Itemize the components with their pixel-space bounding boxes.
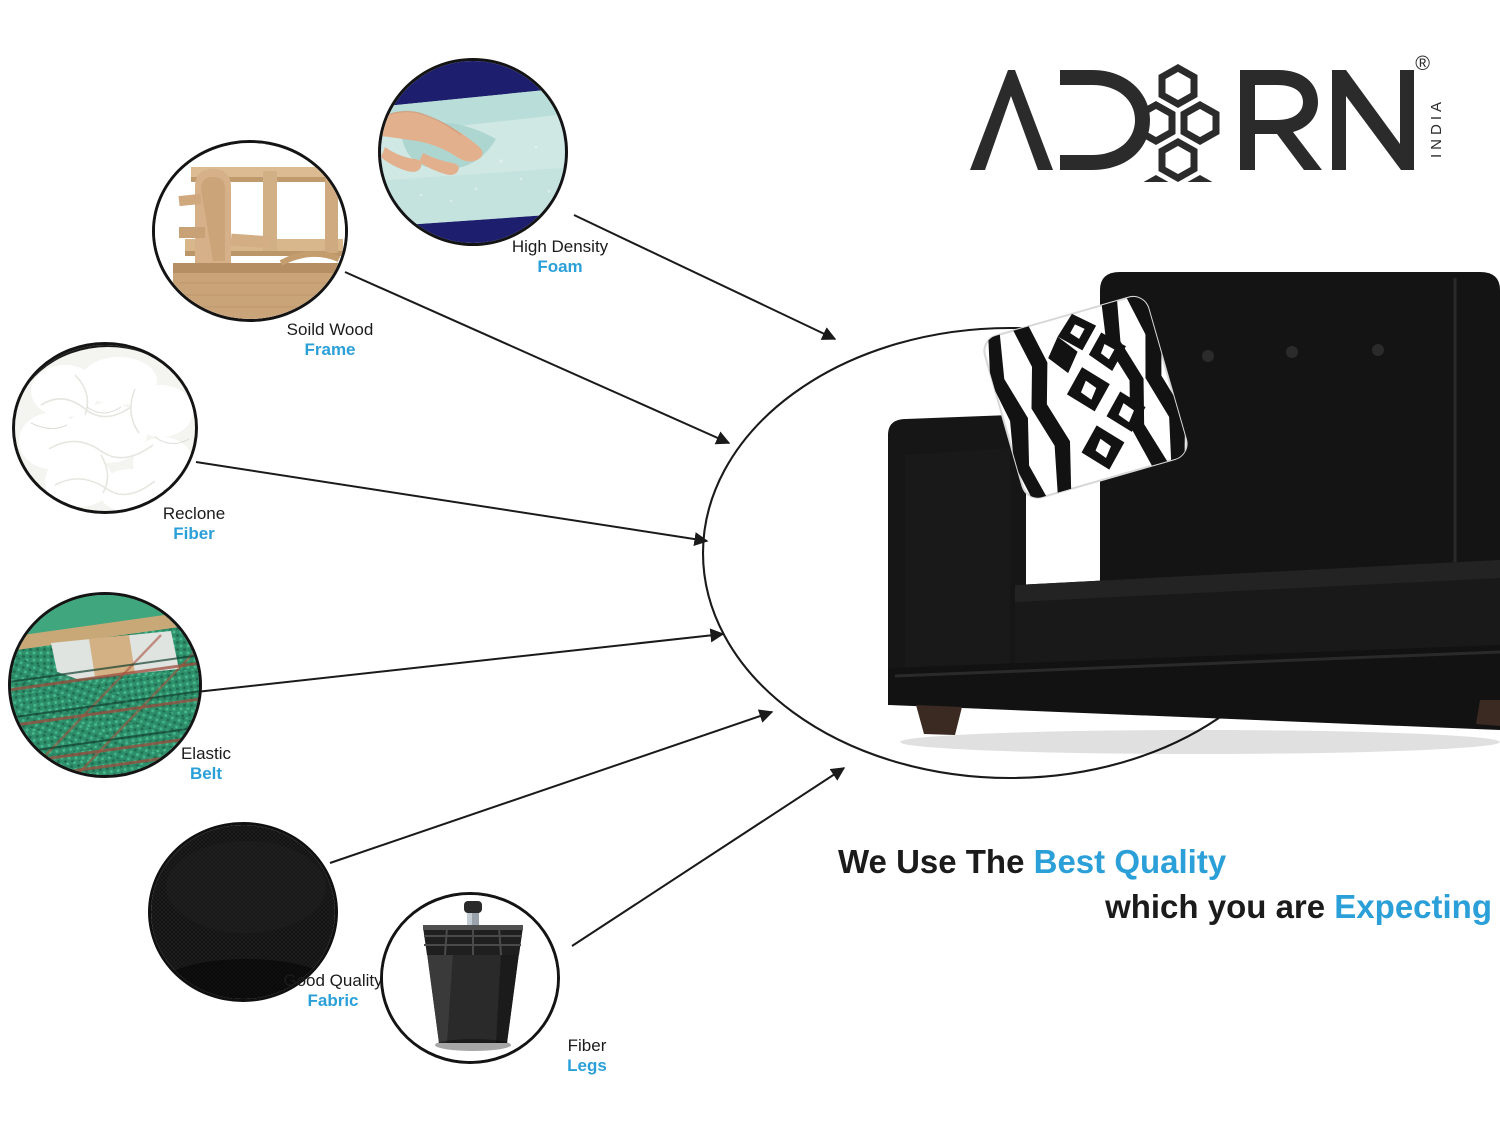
caption-accent: Frame bbox=[250, 340, 410, 360]
infographic-canvas: INDIA ® bbox=[0, 0, 1500, 1125]
reclone-fiber-caption: Reclone Fiber bbox=[130, 504, 258, 543]
tagline-line2-plain: which you are bbox=[1105, 888, 1334, 925]
foam-press-illustration bbox=[381, 61, 568, 246]
sofa-illustration bbox=[888, 272, 1500, 754]
honeycomb-hexagons bbox=[1140, 68, 1216, 182]
registered-trademark-icon: ® bbox=[1415, 54, 1430, 74]
caption-accent: Belt bbox=[144, 764, 268, 784]
high-density-foam-image bbox=[378, 58, 568, 246]
wooden-frame-illustration bbox=[155, 143, 348, 322]
tagline-line1-plain: We Use The bbox=[838, 843, 1034, 880]
arrow-fiber bbox=[196, 462, 707, 541]
caption-primary: Fiber bbox=[532, 1036, 642, 1056]
tagline-line2-accent: Expecting bbox=[1334, 888, 1492, 925]
solid-wood-frame-image bbox=[152, 140, 348, 322]
caption-primary: High Density bbox=[480, 237, 640, 257]
caption-accent: Fiber bbox=[130, 524, 258, 544]
fiber-fill-illustration bbox=[15, 345, 198, 514]
caption-primary: Reclone bbox=[130, 504, 258, 524]
convergence-ellipse bbox=[703, 328, 1317, 778]
arrow-fabric bbox=[330, 712, 772, 863]
high-density-foam-caption: High Density Foam bbox=[480, 237, 640, 276]
geometric-cushion bbox=[979, 292, 1196, 503]
caption-accent: Foam bbox=[480, 257, 640, 277]
brand-logo: INDIA ® bbox=[960, 52, 1430, 182]
elastic-belt-caption: Elastic Belt bbox=[144, 744, 268, 783]
caption-primary: Soild Wood bbox=[250, 320, 410, 340]
reclone-fiber-image bbox=[12, 342, 198, 514]
caption-primary: Elastic bbox=[144, 744, 268, 764]
brand-country-label: INDIA bbox=[1428, 98, 1445, 158]
arrow-legs bbox=[572, 768, 844, 946]
fiber-legs-caption: Fiber Legs bbox=[532, 1036, 642, 1075]
adorn-wordmark bbox=[960, 52, 1430, 182]
arrow-belt bbox=[196, 634, 723, 692]
solid-wood-frame-caption: Soild Wood Frame bbox=[250, 320, 410, 359]
caption-accent: Legs bbox=[532, 1056, 642, 1076]
tagline: We Use The Best Quality which you are Ex… bbox=[838, 840, 1498, 930]
arrow-foam bbox=[574, 215, 835, 339]
tagline-line1-accent: Best Quality bbox=[1034, 843, 1227, 880]
